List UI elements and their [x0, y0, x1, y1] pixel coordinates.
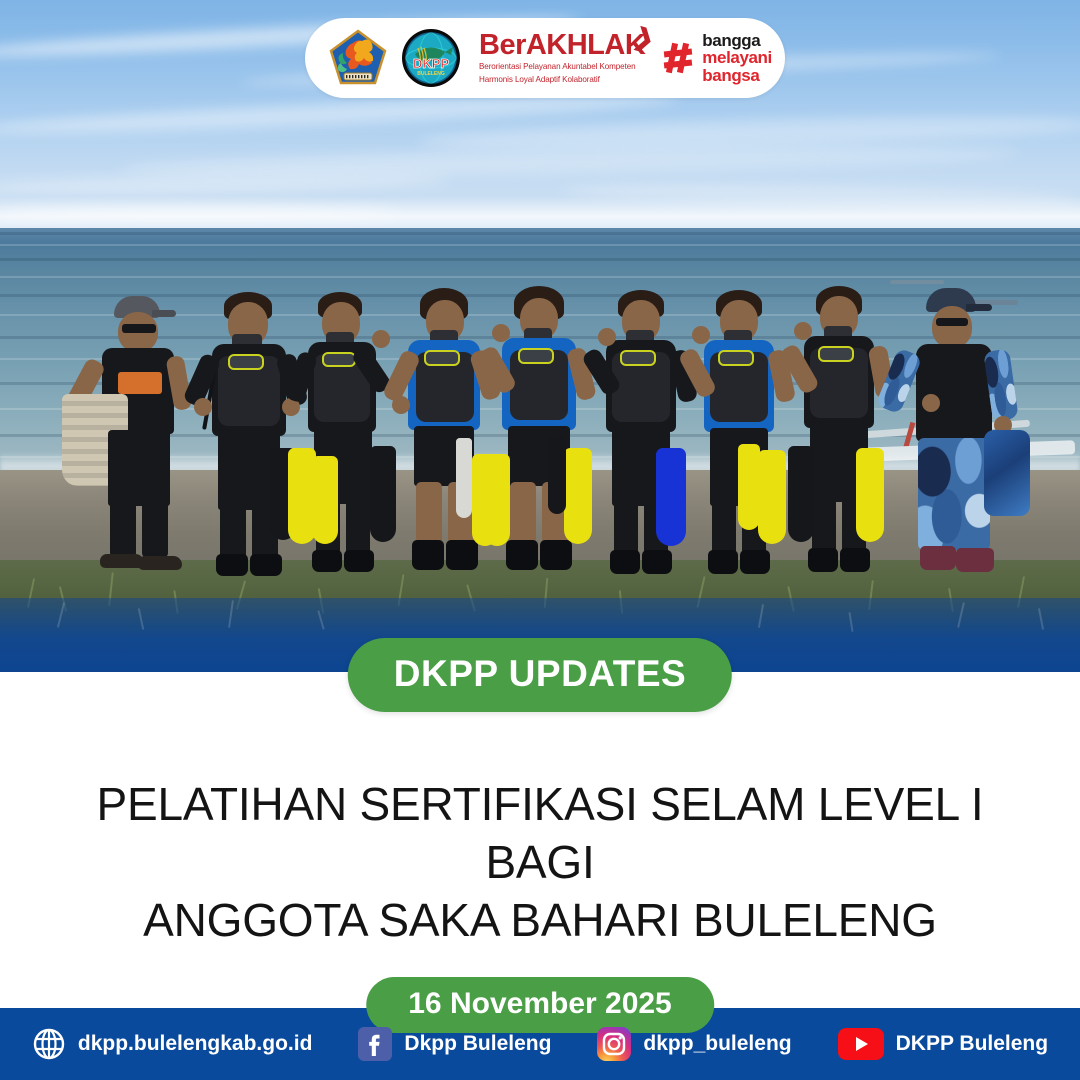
bangga-line-1: bangga [702, 32, 772, 50]
social-media-poster: DKPP BULELENG BerAKHLAK ❯ Berorientasi P… [0, 0, 1080, 1080]
headline-line-2: ANGGOTA SAKA BAHARI BULELENG [60, 892, 1020, 950]
bangga-melayani-bangsa-logo: bangga melayani bangsa [661, 32, 772, 85]
person-5 [490, 298, 606, 598]
footer-bar: 16 November 2025 dkpp.bulelengkab.go.id [0, 1008, 1080, 1080]
social-instagram[interactable]: dkpp_buleleng [597, 1027, 791, 1061]
instagram-icon [597, 1027, 631, 1061]
person-6 [594, 298, 706, 598]
hero-photo [0, 0, 1080, 672]
social-instagram-label: dkpp_buleleng [643, 1032, 791, 1056]
berakhlak-subtitle-line2: Harmonis Loyal Adaptif Kolaboratif [479, 75, 645, 86]
person-1 [78, 298, 208, 598]
berakhlak-title: BerAKHLAK [479, 31, 645, 60]
social-youtube[interactable]: DKPP Buleleng [838, 1028, 1048, 1060]
header-logo-bar: DKPP BULELENG BerAKHLAK ❯ Berorientasi P… [305, 18, 785, 98]
social-youtube-label: DKPP Buleleng [896, 1032, 1048, 1056]
berakhlak-arrow-icon: ❯ [631, 22, 658, 55]
horizon-haze [0, 196, 1080, 230]
event-date-badge: 16 November 2025 [366, 977, 714, 1033]
dkpp-buleleng-logo-icon: DKPP BULELENG [401, 28, 461, 88]
person-9-instructor [898, 298, 1028, 598]
content-area: DKPP UPDATES PELATIHAN SERTIFIKASI SELAM… [0, 672, 1080, 1080]
svg-text:BULELENG: BULELENG [417, 71, 445, 77]
buleleng-regency-crest-icon [329, 29, 387, 87]
person-7 [692, 298, 804, 598]
svg-text:DKPP: DKPP [413, 56, 449, 71]
youtube-icon [838, 1028, 884, 1060]
dkpp-updates-badge: DKPP UPDATES [348, 638, 732, 712]
headline-line-1: PELATIHAN SERTIFIKASI SELAM LEVEL I BAGI [60, 776, 1020, 892]
hashtag-icon [661, 41, 695, 75]
bangga-line-2: melayani [702, 49, 772, 67]
social-facebook-label: Dkpp Buleleng [404, 1032, 551, 1056]
globe-icon [32, 1027, 66, 1061]
person-3 [296, 298, 406, 598]
berakhlak-logo: BerAKHLAK ❯ Berorientasi Pelayanan Akunt… [479, 31, 645, 85]
facebook-icon [358, 1027, 392, 1061]
person-8 [790, 298, 902, 598]
bangga-line-3: bangsa [702, 67, 772, 85]
page-title: PELATIHAN SERTIFIKASI SELAM LEVEL I BAGI… [60, 776, 1020, 950]
social-website[interactable]: dkpp.bulelengkab.go.id [32, 1027, 313, 1061]
berakhlak-subtitle-line1: Berorientasi Pelayanan Akuntabel Kompete… [479, 62, 645, 73]
social-website-label: dkpp.bulelengkab.go.id [78, 1032, 313, 1056]
